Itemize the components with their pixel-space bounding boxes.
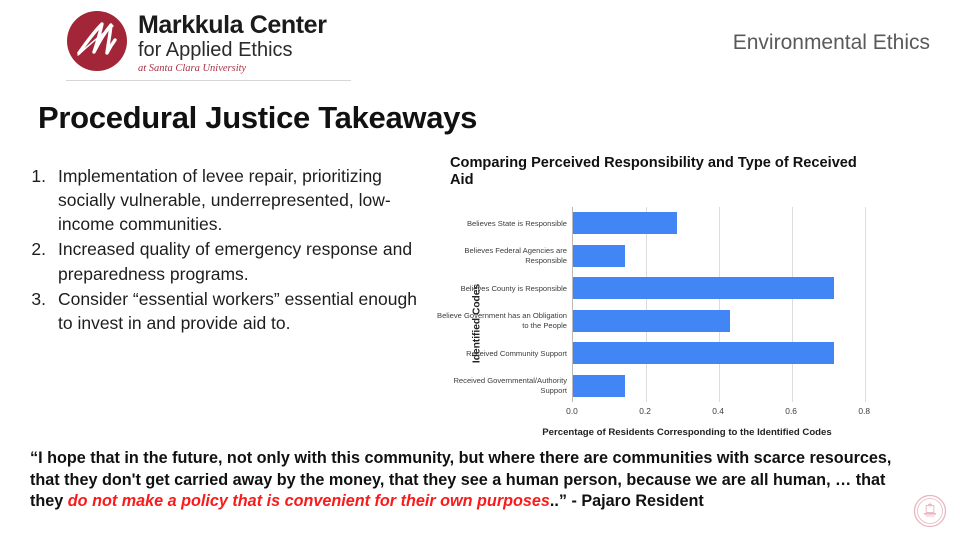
list-item: 3.Consider “essential workers” essential… bbox=[22, 287, 422, 335]
markkula-m-mark-icon bbox=[66, 10, 128, 72]
chart-bar-row: Believes State is Responsible bbox=[573, 207, 886, 240]
chart-bar bbox=[573, 342, 834, 364]
chart-x-tick-label: 0.6 bbox=[785, 406, 797, 416]
chart-category-label: Believe Government has an Obligation to … bbox=[437, 311, 567, 330]
chart-bar-row: Believes County is Responsible bbox=[573, 272, 886, 305]
takeaways-list: 1.Implementation of levee repair, priori… bbox=[22, 164, 422, 336]
santa-clara-university-seal-icon bbox=[913, 494, 947, 528]
chart-plot-area: Believes State is ResponsibleBelieves Fe… bbox=[572, 207, 885, 402]
chart-x-tick-label: 0.8 bbox=[858, 406, 870, 416]
quote-text-part2: ..” - Pajaro Resident bbox=[550, 492, 704, 510]
chart-plot-wrap: Believes State is ResponsibleBelieves Fe… bbox=[572, 207, 885, 402]
chart-category-label: Believes Federal Agencies are Responsibl… bbox=[437, 246, 567, 265]
list-item-number: 1. bbox=[22, 164, 58, 236]
chart-category-label: Believes County is Responsible bbox=[437, 284, 567, 293]
chart-bar-row: Believe Government has an Obligation to … bbox=[573, 305, 886, 338]
slide-header: Markkula Center for Applied Ethics at Sa… bbox=[0, 0, 960, 92]
chart-bar bbox=[573, 212, 677, 234]
list-item-number: 3. bbox=[22, 287, 58, 335]
logo-wordmark: Markkula Center for Applied Ethics at Sa… bbox=[138, 10, 327, 76]
chart-category-label: Received Community Support bbox=[437, 349, 567, 358]
header-divider bbox=[66, 80, 351, 81]
chart-bar bbox=[573, 277, 834, 299]
chart-bar bbox=[573, 375, 625, 397]
logo-title-line: Markkula Center bbox=[138, 13, 327, 39]
bar-chart: Comparing Perceived Responsibility and T… bbox=[437, 150, 937, 442]
list-item: 2.Increased quality of emergency respons… bbox=[22, 237, 422, 285]
chart-category-label: Believes State is Responsible bbox=[437, 219, 567, 228]
list-item-text: Consider “essential workers” essential e… bbox=[58, 287, 422, 335]
list-item-text: Implementation of levee repair, prioriti… bbox=[58, 164, 422, 236]
chart-bar-row: Received Governmental/Authority Support bbox=[573, 370, 886, 403]
page-title: Procedural Justice Takeaways bbox=[38, 100, 477, 136]
chart-category-label: Received Governmental/Authority Support bbox=[437, 376, 567, 395]
chart-x-tick-label: 0.2 bbox=[639, 406, 651, 416]
chart-x-tick-label: 0.4 bbox=[712, 406, 724, 416]
chart-bar bbox=[573, 310, 730, 332]
chart-bar-row: Believes Federal Agencies are Responsibl… bbox=[573, 240, 886, 273]
chart-bar bbox=[573, 245, 625, 267]
list-item: 1.Implementation of levee repair, priori… bbox=[22, 164, 422, 236]
course-title: Environmental Ethics bbox=[733, 31, 930, 55]
quote-emphasis: do not make a policy that is convenient … bbox=[68, 492, 550, 510]
logo-subtitle-line: for Applied Ethics bbox=[138, 39, 327, 61]
chart-bar-row: Received Community Support bbox=[573, 337, 886, 370]
list-item-text: Increased quality of emergency response … bbox=[58, 237, 422, 285]
chart-x-axis-label: Percentage of Residents Corresponding to… bbox=[437, 427, 937, 438]
resident-quote: “I hope that in the future, not only wit… bbox=[30, 448, 920, 513]
list-item-number: 2. bbox=[22, 237, 58, 285]
chart-x-tick-label: 0.0 bbox=[566, 406, 578, 416]
chart-title: Comparing Perceived Responsibility and T… bbox=[450, 155, 870, 189]
logo-affiliation-line: at Santa Clara University bbox=[138, 61, 327, 76]
markkula-center-logo: Markkula Center for Applied Ethics at Sa… bbox=[66, 10, 327, 76]
